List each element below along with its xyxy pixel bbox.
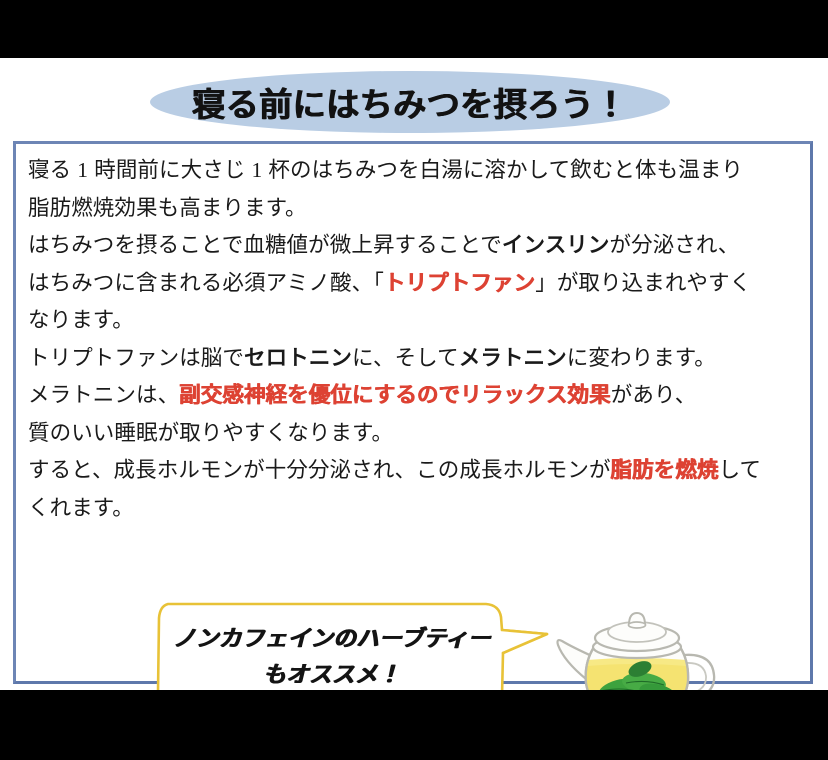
body-line-9: すると、成長ホルモンが十分分泌され、この成長ホルモンが脂肪を燃焼して [28,452,806,490]
line6-seg2: に、そして [352,346,459,370]
body-line-7: メラトニンは、副交感神経を優位にするのでリラックス効果があり、 [28,377,806,415]
letterbox-bar-bottom [0,690,828,760]
line3-seg1: はちみつを摂ることで血糖値が微上昇することで [28,233,502,257]
line3-seg2: が分泌され、 [610,233,740,257]
slide-canvas: 寝る前にはちみつを摂ろう！ 寝る 1 時間前に大さじ 1 杯のはちみつを白湯に溶… [0,58,828,690]
line1-seg3: 杯のはちみつを白湯に溶かして飲むと体も温まり [262,158,743,182]
line1-num1: 1 [77,158,88,182]
line8-text: 質のいい睡眠が取りやすくなります。 [28,421,393,445]
body-line-5: なります。 [28,302,806,340]
line1-num2: 1 [252,158,263,182]
line6-bold-serotonin: セロトニン [244,346,352,370]
body-copy: 寝る 1 時間前に大さじ 1 杯のはちみつを白湯に溶かして飲むと体も温まり 脂肪… [28,152,806,527]
page-title: 寝る前にはちみつを摂ろう！ [150,71,670,133]
body-line-8: 質のいい睡眠が取りやすくなります。 [28,415,806,453]
line9-seg1: すると、成長ホルモンが十分分泌され、この成長ホルモンが [28,458,611,482]
line1-seg2: 時間前に大さじ [88,158,251,182]
line2-text: 脂肪燃焼効果も高まります。 [28,196,307,220]
slide-stage: 寝る前にはちみつを摂ろう！ 寝る 1 時間前に大さじ 1 杯のはちみつを白湯に溶… [0,0,828,760]
line5-text: なります。 [28,308,134,332]
letterbox-bar-top [0,0,828,58]
line4-seg2: 」が取り込まれやすく [535,271,751,295]
teapot-and-cup-icon [536,591,776,690]
line7-seg2: があり、 [611,383,697,407]
content-frame: 寝る 1 時間前に大さじ 1 杯のはちみつを白湯に溶かして飲むと体も温まり 脂肪… [13,141,813,684]
body-line-1: 寝る 1 時間前に大さじ 1 杯のはちみつを白湯に溶かして飲むと体も温まり [28,152,806,190]
line7-seg1: メラトニンは、 [28,383,179,407]
body-line-10: くれます。 [28,490,806,528]
callout-bubble: ノンカフェインのハーブティー もオススメ！ [152,592,512,690]
line9-red-burn-fat: 脂肪を燃焼 [611,458,719,482]
line7-red-relax: 副交感神経を優位にするのでリラックス効果 [179,383,611,407]
line4-seg1: はちみつに含まれる必須アミノ酸、「 [28,271,384,295]
line4-red-tryptophan: トリプトファン [384,271,535,295]
line6-seg1: トリプトファンは脳で [28,346,244,370]
body-line-6: トリプトファンは脳でセロトニンに、そしてメラトニンに変わります。 [28,340,806,378]
line10-text: くれます。 [28,496,134,520]
line1-seg1: 寝る [28,158,77,182]
body-line-3: はちみつを摂ることで血糖値が微上昇することでインスリンが分泌され、 [28,227,806,265]
line3-bold-insulin: インスリン [502,233,610,257]
line6-seg3: に変わります。 [567,346,716,370]
line6-bold-melatonin: メラトニン [459,346,567,370]
herbal-tea-illustration [536,591,776,690]
body-line-4: はちみつに含まれる必須アミノ酸、「トリプトファン」が取り込まれやすく [28,265,806,303]
body-line-2: 脂肪燃焼効果も高まります。 [28,190,806,228]
callout-bubble-shape [152,592,552,690]
slide-title: 寝る前にはちみつを摂ろう！ [150,71,670,133]
line9-seg2: して [719,458,762,482]
